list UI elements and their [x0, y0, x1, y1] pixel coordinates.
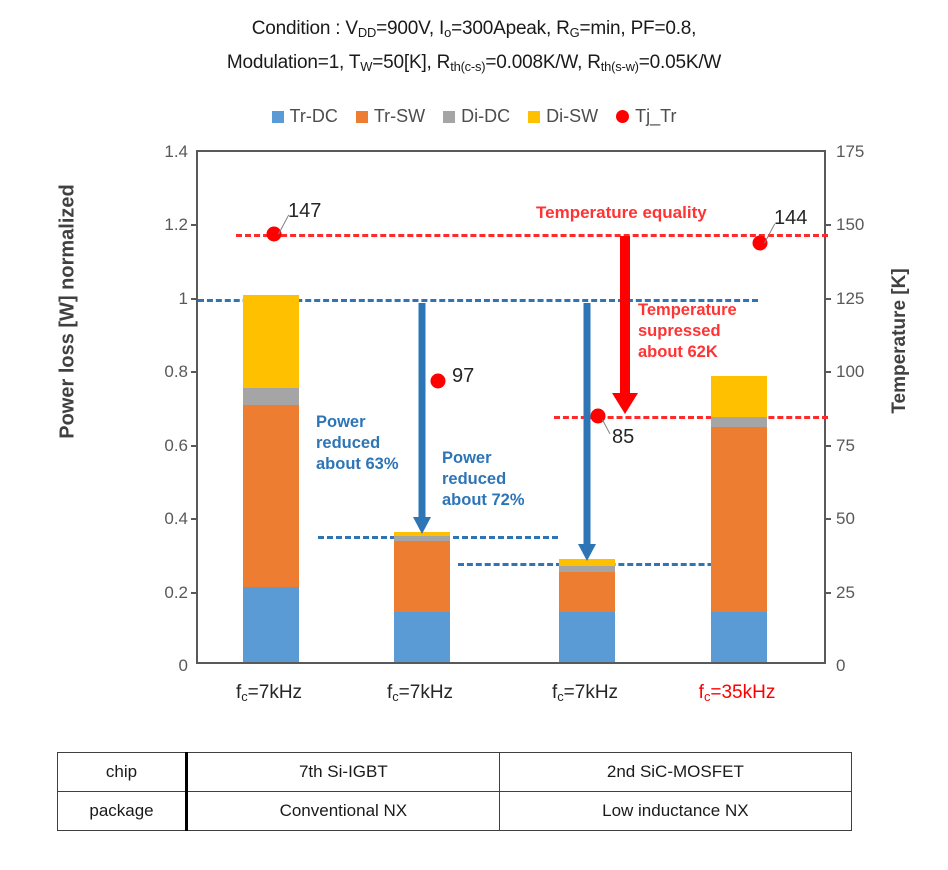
power-reduced-63-label: Powerreducedabout 63%: [316, 412, 399, 475]
right-axis-tick: 0: [836, 656, 906, 676]
chart-legend: Tr-DCTr-SWDi-DCDi-SWTj_Tr: [0, 106, 948, 127]
tj-value-label: 85: [612, 426, 634, 449]
legend-item-di-sw: Di-SW: [528, 106, 598, 127]
config-table: chip7th Si-IGBT2nd SiC-MOSFETpackageConv…: [57, 752, 852, 831]
table-row: packageConventional NXLow inductance NX: [58, 792, 852, 831]
bar-segment-tr-sw: [711, 427, 767, 612]
table-cell: 2nd SiC-MOSFET: [499, 753, 851, 792]
right-tick-mark: [824, 298, 831, 300]
legend-label: Di-SW: [546, 106, 598, 127]
bar-segment-di-dc: [559, 566, 615, 573]
power-reduction-arrow: [413, 303, 431, 534]
left-axis-tick: 1: [118, 289, 188, 309]
tj-value-label: 147: [288, 200, 321, 223]
table-cell: 7th Si-IGBT: [187, 753, 500, 792]
tj-value-label: 144: [774, 207, 807, 230]
right-axis-tick: 75: [836, 436, 906, 456]
right-axis-tick: 175: [836, 142, 906, 162]
tj-marker-dot: [431, 374, 446, 389]
annotation-line: reduced: [442, 469, 525, 490]
chart-figure: Condition : VDD=900V, Io=300Apeak, RG=mi…: [0, 0, 948, 870]
right-tick-mark: [824, 224, 831, 226]
legend-label: Di-DC: [461, 106, 510, 127]
table-cell: Conventional NX: [187, 792, 500, 831]
legend-label: Tj_Tr: [635, 106, 676, 127]
power-reduced-72-label: Powerreducedabout 72%: [442, 448, 525, 511]
right-axis-tick: 25: [836, 583, 906, 603]
annotation-line: about 62K: [638, 342, 737, 363]
legend-item-tj_tr: Tj_Tr: [616, 106, 676, 127]
bar-stack: [243, 148, 299, 662]
bar-segment-tr-dc: [394, 612, 450, 662]
annotation-line: Power: [316, 412, 399, 433]
x-axis-label-0: fc=7kHz: [236, 682, 302, 704]
bar-segment-di-sw: [711, 376, 767, 418]
legend-item-tr-sw: Tr-SW: [356, 106, 425, 127]
annotation-line: Temperature: [638, 300, 737, 321]
chart-title-line2: Modulation=1, TW=50[K], Rth(c-s)=0.008K/…: [0, 48, 948, 82]
left-tick-mark: [191, 592, 198, 594]
right-tick-mark: [824, 592, 831, 594]
table-row-header: chip: [58, 753, 187, 792]
plot-area: 1.41.210.80.60.40.2017515012510075502501…: [196, 150, 826, 664]
left-axis-tick: 0.2: [118, 583, 188, 603]
bar-segment-tr-dc: [711, 612, 767, 662]
x-axis-label-2: fc=7kHz: [552, 682, 618, 704]
bar-segment-tr-sw: [559, 572, 615, 612]
bar-segment-di-dc: [711, 417, 767, 426]
left-axis-title: Power loss [W] normalized: [57, 152, 80, 472]
bar-segment-di-dc: [394, 536, 450, 540]
left-axis-tick: 0.6: [118, 436, 188, 456]
legend-label: Tr-DC: [290, 106, 338, 127]
chart-title: Condition : VDD=900V, Io=300Apeak, RG=mi…: [0, 14, 948, 82]
table-cell: Low inductance NX: [499, 792, 851, 831]
x-axis-label-1: fc=7kHz: [387, 682, 453, 704]
right-axis-tick: 150: [836, 215, 906, 235]
left-tick-mark: [191, 371, 198, 373]
annotation-line: reduced: [316, 433, 399, 454]
power-reduction-arrow: [578, 303, 596, 561]
legend-item-di-dc: Di-DC: [443, 106, 510, 127]
left-tick-mark: [191, 518, 198, 520]
left-axis-tick: 1.4: [118, 142, 188, 162]
legend-circle-icon: [616, 110, 629, 123]
left-tick-mark: [191, 298, 198, 300]
temperature-equality-label: Temperature equality: [536, 202, 707, 223]
left-axis-tick: 1.2: [118, 215, 188, 235]
table-row-header: package: [58, 792, 187, 831]
x-axis-label-3: fc=35kHz: [699, 682, 776, 704]
bar-segment-di-dc: [243, 388, 299, 405]
left-tick-mark: [191, 445, 198, 447]
legend-item-tr-dc: Tr-DC: [272, 106, 338, 127]
left-axis-tick: 0: [118, 656, 188, 676]
bar-segment-tr-sw: [243, 405, 299, 587]
right-axis-title: Temperature [K]: [889, 211, 911, 471]
annotation-line: about 72%: [442, 490, 525, 511]
left-axis-tick: 0.8: [118, 362, 188, 382]
bar-segment-tr-dc: [243, 587, 299, 662]
right-tick-mark: [824, 371, 831, 373]
right-axis-tick: 100: [836, 362, 906, 382]
right-tick-mark: [824, 518, 831, 520]
legend-square-icon: [528, 111, 540, 123]
bar-stack: [711, 148, 767, 662]
legend-square-icon: [356, 111, 368, 123]
chart-title-line1: Condition : VDD=900V, Io=300Apeak, RG=mi…: [252, 18, 697, 39]
annotation-line: Power: [442, 448, 525, 469]
temperature-supression-arrow: [612, 236, 638, 414]
right-axis-tick: 125: [836, 289, 906, 309]
bar-segment-tr-sw: [394, 541, 450, 612]
bar-segment-di-sw: [243, 295, 299, 389]
annotation-line: about 63%: [316, 454, 399, 475]
legend-label: Tr-SW: [374, 106, 425, 127]
annotation-line: supressed: [638, 321, 737, 342]
table-row: chip7th Si-IGBT2nd SiC-MOSFET: [58, 753, 852, 792]
right-axis-tick: 50: [836, 509, 906, 529]
temperature-supressed-label: Temperaturesupressedabout 62K: [638, 300, 737, 363]
legend-square-icon: [272, 111, 284, 123]
tj-value-label: 97: [452, 365, 474, 388]
bar-segment-tr-dc: [559, 612, 615, 662]
legend-square-icon: [443, 111, 455, 123]
left-tick-mark: [191, 224, 198, 226]
right-tick-mark: [824, 445, 831, 447]
left-axis-tick: 0.4: [118, 509, 188, 529]
